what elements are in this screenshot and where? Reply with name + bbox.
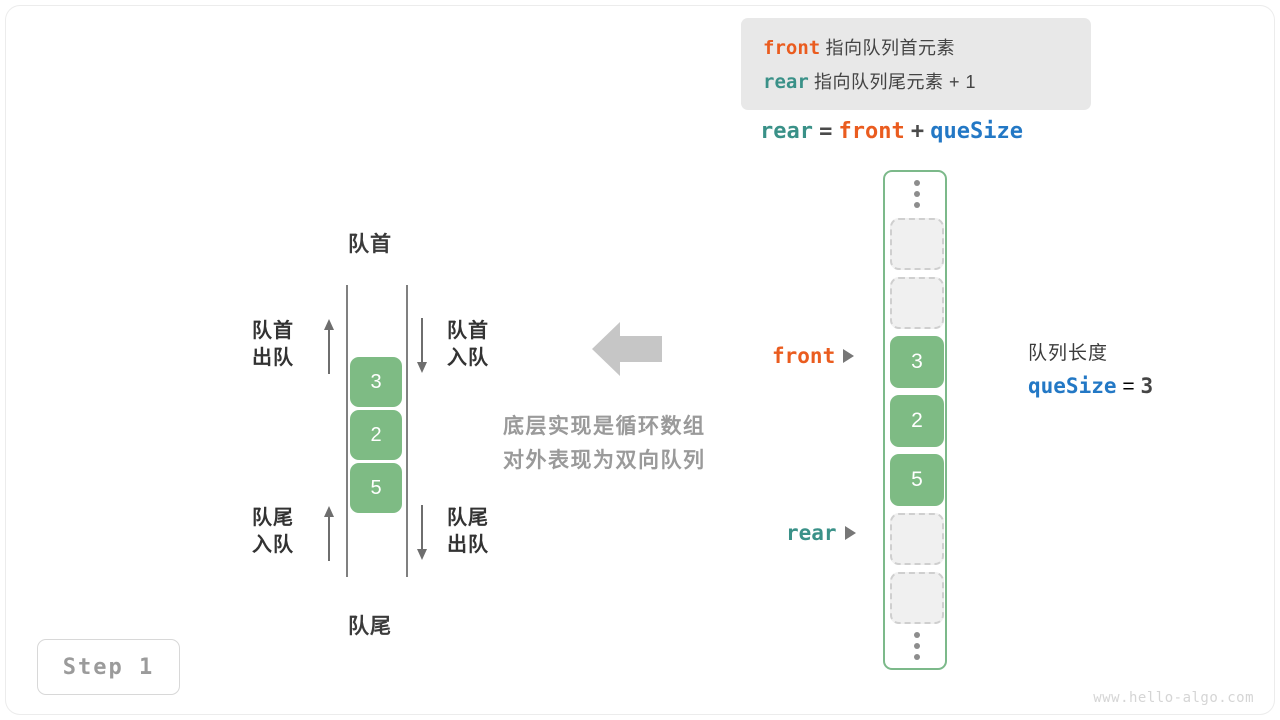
quesize-equals: =: [1122, 375, 1134, 398]
formula-front: front: [838, 119, 904, 144]
array-cell-1[interactable]: [890, 277, 944, 329]
queue-length-title: 队列长度: [1028, 338, 1153, 365]
legend-term-front: front: [763, 37, 820, 59]
deque-cell-0[interactable]: 3: [350, 357, 402, 407]
op-tail-dequeue-line2: 出队: [447, 532, 489, 559]
quesize-value: 3: [1140, 374, 1153, 398]
rear-formula: rear = front + queSize: [760, 118, 1023, 144]
deque-cell-2[interactable]: 5: [350, 463, 402, 513]
legend-row-rear: rear 指向队列尾元素 + 1: [763, 65, 1091, 99]
step-badge: Step 1: [37, 639, 180, 695]
array-top-ellipsis-icon: [885, 172, 949, 216]
formula-plus: +: [911, 119, 924, 144]
op-head-dequeue-line2: 出队: [252, 345, 294, 372]
op-head-dequeue-arrow-icon: [322, 318, 336, 374]
legend-desc-front: 指向队列首元素: [825, 38, 955, 58]
rear-pointer-arrow-icon: [845, 526, 856, 540]
legend-term-rear: rear: [763, 71, 809, 93]
op-head-enqueue-label: 队首 入队: [447, 318, 489, 372]
array-cell-2[interactable]: 3: [890, 336, 944, 388]
array-cell-4[interactable]: 5: [890, 454, 944, 506]
formula-rear: rear: [760, 119, 813, 144]
op-tail-dequeue-label: 队尾 出队: [447, 505, 489, 559]
op-tail-enqueue-line2: 入队: [252, 532, 294, 559]
op-tail-enqueue-label: 队尾 入队: [252, 505, 294, 559]
legend-desc-rear: 指向队列尾元素 + 1: [814, 72, 976, 92]
op-head-dequeue-line1: 队首: [252, 318, 294, 345]
circular-array-frame: 3 2 5: [883, 170, 947, 670]
formula-quesize: queSize: [930, 119, 1023, 144]
rear-pointer: rear: [786, 521, 856, 545]
watermark: www.hello-algo.com: [1093, 690, 1254, 706]
legend-row-front: front 指向队列首元素: [763, 31, 1091, 65]
deque-rail-left: [346, 285, 348, 577]
deque-tail-label: 队尾: [348, 610, 392, 640]
deque-cell-2-value: 5: [370, 477, 381, 500]
step-badge-label: Step 1: [63, 655, 154, 680]
front-pointer: front: [772, 344, 854, 368]
op-tail-dequeue-arrow-icon: [415, 505, 429, 561]
op-head-enqueue-line2: 入队: [447, 345, 489, 372]
queue-length-note: 队列长度 queSize = 3: [1028, 338, 1153, 399]
front-pointer-arrow-icon: [843, 349, 854, 363]
array-cell-0[interactable]: [890, 218, 944, 270]
quesize-var: queSize: [1028, 374, 1117, 398]
implementation-note-line1: 底层实现是循环数组: [503, 410, 706, 444]
deque-head-label: 队首: [348, 228, 392, 258]
diagram-canvas: front 指向队列首元素 rear 指向队列尾元素 + 1 rear = fr…: [0, 0, 1280, 720]
array-cell-3[interactable]: 2: [890, 395, 944, 447]
array-cell-6[interactable]: [890, 572, 944, 624]
op-tail-enqueue-arrow-icon: [322, 505, 336, 561]
array-bottom-ellipsis-icon: [885, 624, 949, 668]
op-head-enqueue-line1: 队首: [447, 318, 489, 345]
deque-cell-1[interactable]: 2: [350, 410, 402, 460]
array-cell-3-value: 2: [911, 409, 923, 433]
deque-rail-right: [406, 285, 408, 577]
array-cell-5[interactable]: [890, 513, 944, 565]
front-pointer-label: front: [772, 344, 835, 368]
deque-cell-0-value: 3: [370, 371, 381, 394]
pointer-legend-box: front 指向队列首元素 rear 指向队列尾元素 + 1: [741, 18, 1091, 110]
formula-equals: =: [819, 119, 832, 144]
rear-pointer-label: rear: [786, 521, 837, 545]
op-head-dequeue-label: 队首 出队: [252, 318, 294, 372]
op-head-enqueue-arrow-icon: [415, 318, 429, 374]
implementation-note-line2: 对外表现为双向队列: [503, 444, 706, 478]
op-tail-enqueue-line1: 队尾: [252, 505, 294, 532]
deque-cell-1-value: 2: [370, 424, 381, 447]
queue-length-value-row: queSize = 3: [1028, 374, 1153, 399]
array-cell-4-value: 5: [911, 468, 923, 492]
op-tail-dequeue-line1: 队尾: [447, 505, 489, 532]
implementation-note: 底层实现是循环数组 对外表现为双向队列: [503, 410, 706, 478]
array-cell-2-value: 3: [911, 350, 923, 374]
mapping-arrow-icon: [592, 320, 662, 378]
